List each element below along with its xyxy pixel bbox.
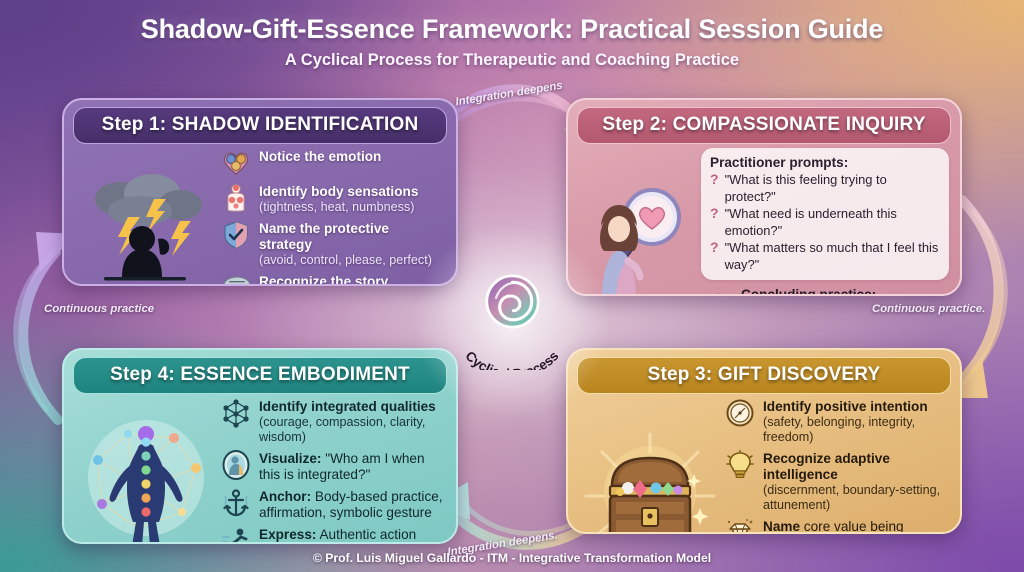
spiral-swirl-icon [485,274,540,329]
question-mark-icon: ? [710,239,719,257]
list-item[interactable]: Visualize: "Who am I when this is integr… [221,450,445,483]
thought-bubble-icon [221,273,251,286]
card-step3-gift-discovery[interactable]: Step 3: GIFT DISCOVERY [566,348,962,534]
diamond-gem-icon [725,518,755,534]
anchor-icon [221,488,251,518]
page-subtitle: A Cyclical Process for Therapeutic and C… [0,51,1024,70]
concluding-practice-block: Concluding practice: Non-judgmental witn… [701,287,949,296]
list-item-label: Recognize the story [259,274,388,286]
lotus-flower-icon [703,287,733,296]
card-step3-items: Identify positive intention (safety, bel… [725,398,949,534]
list-item[interactable]: Recognize adaptive intelligence (discern… [725,450,949,513]
list-item-sublabel: (tightness, heat, numbness) [259,200,418,215]
prompt-item: ? "What matters so much that I feel this… [710,239,940,273]
storm-cloud-lightning-person-icon [75,165,217,285]
hub-label-text: Cyclical Process [462,348,561,370]
prompt-item: ? "What is this feeling trying to protec… [710,171,940,205]
list-item-label: Recognize adaptive intelligence [763,451,890,482]
body-sensation-map-icon [221,183,251,213]
list-item-label: Name [763,519,800,534]
card-step2-compassionate-inquiry[interactable]: Step 2: COMPASSIONATE INQUIRY [566,98,962,296]
title-block: Shadow-Gift-Essence Framework: Practical… [0,14,1024,70]
prompt-text: "What need is underneath this emotion?" [725,206,940,239]
shield-check-icon [221,220,251,250]
hub-label: Cyclical Process [446,322,578,370]
question-mark-icon: ? [710,171,719,189]
lightbulb-icon [725,450,755,480]
prompt-text: "What matters so much that I feel this w… [725,240,940,273]
prompt-text: "What is this feeling trying to protect?… [725,172,940,205]
list-item-sublabel: (discernment, boundary-setting, attuneme… [763,483,949,513]
question-mark-icon: ? [710,205,719,223]
caption-continuous-practice-right: Continuous practice. [872,303,985,315]
caption-continuous-practice-left: Continuous practice [44,303,154,315]
svg-text:Cyclical Process: Cyclical Process [462,348,561,370]
practitioner-prompts-box: Practitioner prompts: ? "What is this fe… [701,148,949,280]
list-item-label: Identify body sensations [259,184,418,199]
chakra-energy-body-icon [75,408,217,544]
card-step1-heading: Step 1: SHADOW IDENTIFICATION [73,107,447,144]
list-item-sublabel: (safety, belonging, integrity, freedom) [763,415,949,445]
concluding-title: Concluding practice: [741,287,949,296]
page-title: Shadow-Gift-Essence Framework: Practical… [0,14,1024,45]
list-item-label: Visualize: [259,451,321,466]
list-item-label: Identify positive intention [763,399,928,414]
prompt-item: ? "What need is underneath this emotion?… [710,205,940,239]
heart-with-emotion-faces-icon [221,148,251,178]
prompts-title: Practitioner prompts: [710,155,940,170]
list-item-label: Express: [259,527,316,542]
mirror-reflection-icon [221,450,251,480]
card-step2-heading: Step 2: COMPASSIONATE INQUIRY [577,107,951,144]
list-item-label: Name the protective strategy [259,221,389,252]
compass-icon [725,398,755,428]
caption-integration-deepens-top: Integration deepens [455,80,564,109]
running-person-icon [221,526,251,544]
card-step1-shadow-identification[interactable]: Step 1: SHADOW IDENTIFICATION [62,98,458,286]
list-item[interactable]: Identify body sensations (tightness, hea… [221,183,445,215]
card-step4-heading: Step 4: ESSENCE EMBODIMENT [73,357,447,394]
card-step3-heading: Step 3: GIFT DISCOVERY [577,357,951,394]
treasure-chest-icon [579,430,721,534]
card-step4-essence-embodiment[interactable]: Step 4: ESSENCE EMBODIMENT [62,348,458,544]
molecule-network-icon [221,398,251,428]
list-item[interactable]: Identify positive intention (safety, bel… [725,398,949,445]
list-item[interactable]: Notice the emotion [221,148,445,178]
list-item[interactable]: Name core value being protected [725,518,949,534]
list-item[interactable]: Anchor: Body-based practice, affirmation… [221,488,445,521]
footer-credit: © Prof. Luis Miguel Gallardo - ITM - Int… [0,551,1024,565]
list-item-label: Notice the emotion [259,149,381,164]
cyclical-process-hub: Cyclical Process [462,272,562,372]
list-item-label: Anchor: [259,489,311,504]
list-item[interactable]: Express: Authentic action aligned with e… [221,526,445,544]
